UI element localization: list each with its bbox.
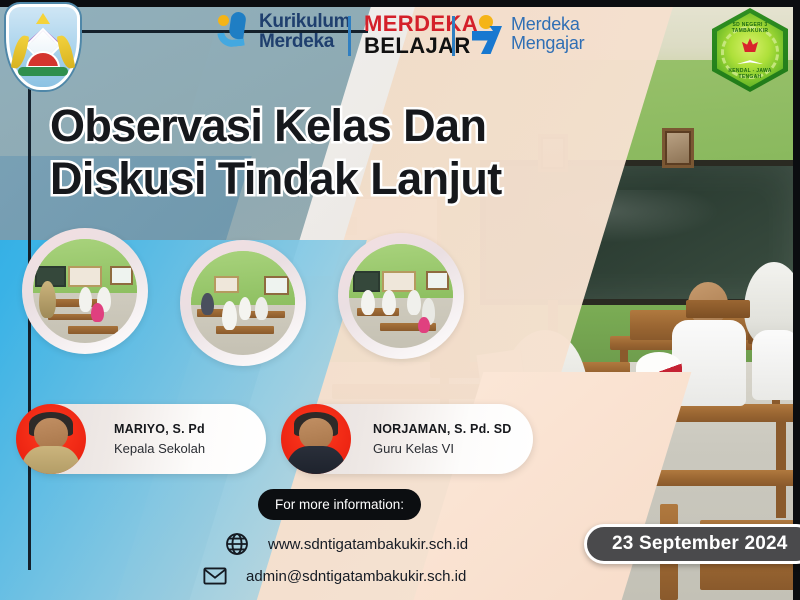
avatar [281, 404, 351, 474]
date-badge: 23 September 2024 [584, 524, 800, 564]
frame-right-border [793, 0, 800, 600]
merdeka-belajar-line1: MERDEKA [364, 13, 478, 35]
merdeka-belajar-logo: MERDEKA BELAJAR [364, 13, 478, 57]
kurikulum-merdeka-logo: Kurikulum Merdeka [216, 12, 350, 52]
more-information-text: For more information: [275, 497, 404, 512]
merdeka-mengajar-icon [470, 14, 504, 54]
merdeka-mengajar-logo: Merdeka Mengajar [470, 14, 584, 54]
kurikulum-merdeka-line2: Merdeka [259, 32, 350, 52]
person-card-principal: MARIYO, S. Pd Kepala Sekolah [18, 404, 266, 474]
person-name: MARIYO, S. Pd [114, 422, 205, 436]
merdeka-mengajar-line1: Merdeka [511, 15, 584, 34]
website-text: www.sdntigatambakukir.sch.id [268, 536, 468, 553]
kurikulum-merdeka-icon [216, 12, 252, 52]
gallery-photo-2 [180, 240, 306, 366]
school-logo: SD NEGERI 3 TAMBAKUKIR KENDAL - JAWA TEN… [712, 8, 788, 92]
gallery-photo-3 [338, 233, 464, 359]
email-text: admin@sdntigatambakukir.sch.id [246, 568, 466, 585]
contact-row-website[interactable]: www.sdntigatambakukir.sch.id [224, 528, 468, 560]
poster-canvas: Kurikulum Merdeka MERDEKA BELAJAR Merdek… [0, 0, 800, 600]
avatar [16, 404, 86, 474]
kurikulum-merdeka-line1: Kurikulum [259, 12, 350, 32]
page-title: Observasi Kelas Dan Diskusi Tindak Lanju… [50, 99, 610, 205]
logo-row: Kurikulum Merdeka MERDEKA BELAJAR Merdek… [0, 0, 800, 80]
logo-divider-2 [452, 16, 455, 56]
school-logo-top-text: SD NEGERI 3 TAMBAKUKIR [720, 22, 781, 40]
page-title-line2: Diskusi Tindak Lanjut [50, 152, 610, 205]
provincial-emblem [6, 4, 80, 90]
date-text: 23 September 2024 [612, 533, 788, 555]
person-name: NORJAMAN, S. Pd. SD [373, 422, 512, 436]
person-role: Kepala Sekolah [114, 441, 205, 456]
page-title-line1: Observasi Kelas Dan [50, 100, 486, 151]
merdeka-mengajar-line2: Mengajar [511, 34, 584, 53]
globe-icon [224, 531, 250, 557]
contact-block: www.sdntigatambakukir.sch.id admin@sdnti… [224, 528, 468, 592]
envelope-icon [202, 563, 228, 589]
merdeka-belajar-line2: BELAJAR [364, 35, 478, 57]
gallery-photo-1 [22, 228, 148, 354]
contact-row-email[interactable]: admin@sdntigatambakukir.sch.id [202, 560, 468, 592]
more-information-label: For more information: [258, 489, 421, 520]
person-role: Guru Kelas VI [373, 441, 512, 456]
person-card-teacher: NORJAMAN, S. Pd. SD Guru Kelas VI [283, 404, 533, 474]
logo-divider-1 [348, 16, 351, 56]
school-logo-bottom-text: KENDAL - JAWA TENGAH [720, 68, 781, 80]
